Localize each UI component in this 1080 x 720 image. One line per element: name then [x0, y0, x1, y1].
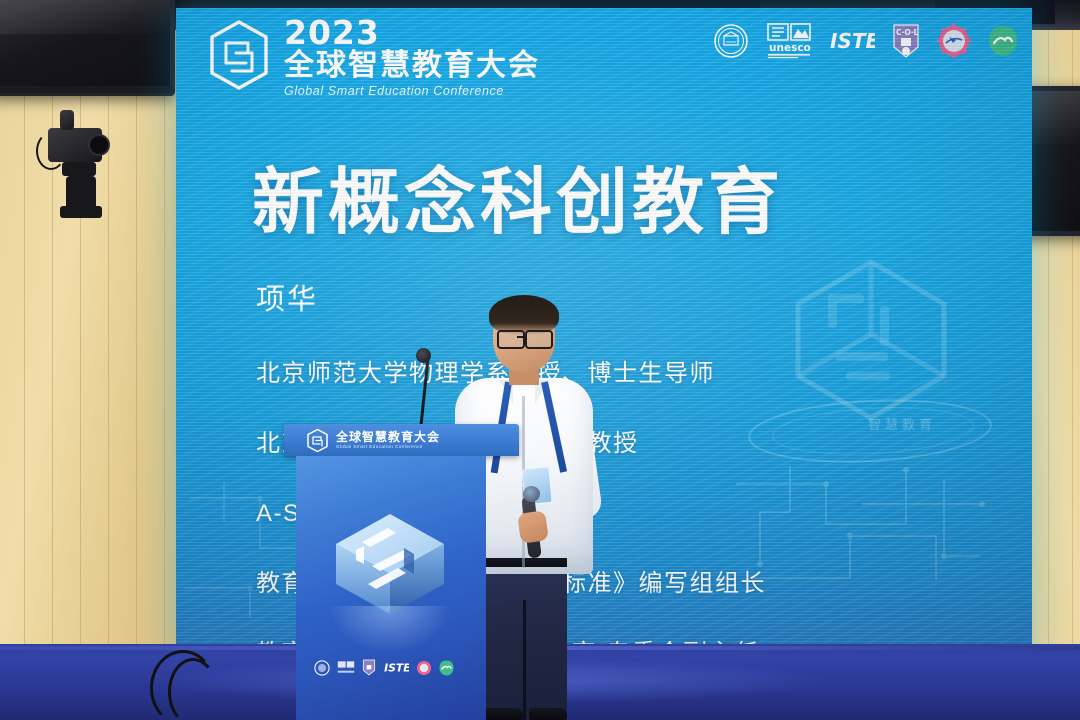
svg-text:C·O·L: C·O·L	[896, 28, 919, 37]
conference-year: 2023	[284, 16, 540, 49]
lectern-sponsor-row: ISTE	[314, 659, 454, 676]
camera-base-plate	[60, 206, 102, 218]
microphone-capsule-icon	[523, 486, 540, 502]
left-tv-bezel	[0, 86, 172, 93]
speaker-shoe-right	[529, 708, 567, 720]
gear-emblem-logo	[416, 660, 432, 676]
bnu-seal-logo	[314, 660, 330, 676]
hexagon-cube-icon	[206, 19, 272, 91]
bnu-seal-logo	[713, 23, 749, 59]
col-logo	[362, 659, 376, 676]
gear-emblem-logo	[937, 24, 971, 58]
sponsor-logo-row: unesco ISTE C·O·L	[713, 22, 1018, 60]
camera-viewfinder	[60, 110, 74, 130]
conference-name-cn: 全球智慧教育大会	[284, 51, 540, 81]
speaker-name: 项华	[256, 276, 318, 318]
iste-logo: ISTE	[829, 29, 875, 53]
svg-text:ISTE: ISTE	[830, 29, 875, 53]
camera-cable	[36, 132, 66, 170]
green-leaf-logo	[988, 25, 1018, 57]
lectern-front-panel: ISTE	[296, 456, 486, 720]
speaker-leg-seam	[523, 600, 526, 720]
slide-title: 新概念科创教育	[252, 143, 784, 248]
floor-cable	[168, 658, 218, 720]
hexagon-cube-icon	[306, 428, 329, 453]
eyeglasses-bridge	[517, 336, 525, 338]
col-logo: C·O·L	[892, 23, 920, 59]
svg-text:unesco: unesco	[769, 42, 811, 54]
eyeglasses-icon	[525, 330, 553, 349]
left-wall-tv	[0, 0, 175, 96]
lectern-logo-en: Global Smart Education Conference	[336, 445, 440, 450]
conference-logo: 2023 全球智慧教育大会 Global Smart Education Con…	[206, 12, 540, 98]
green-leaf-logo	[439, 660, 454, 676]
camera-mount-arm	[62, 162, 96, 176]
lectern: 全球智慧教育大会 Global Smart Education Conferen…	[288, 424, 493, 720]
speaker-hand	[517, 510, 549, 544]
conference-photo: 智慧教育	[0, 0, 1080, 720]
microphone-head-icon	[416, 348, 431, 363]
speaker-hair	[489, 295, 559, 335]
eyeglasses-icon	[497, 330, 525, 349]
watermark-text: 智慧教育	[868, 414, 936, 433]
speaker-belt	[483, 558, 567, 567]
svg-text:ISTE: ISTE	[384, 661, 409, 674]
circuit-watermark	[730, 460, 998, 590]
left-wood-wall	[0, 0, 190, 720]
camera-lens-icon	[88, 134, 110, 156]
conference-name-en: Global Smart Education Conference	[284, 85, 540, 98]
unesco-logo	[337, 660, 355, 676]
iste-logo: ISTE	[383, 661, 409, 674]
lectern-logo-cn: 全球智慧教育大会	[336, 431, 440, 443]
lectern-top-panel: 全球智慧教育大会 Global Smart Education Conferen…	[284, 424, 519, 456]
unesco-logo: unesco	[766, 22, 812, 60]
